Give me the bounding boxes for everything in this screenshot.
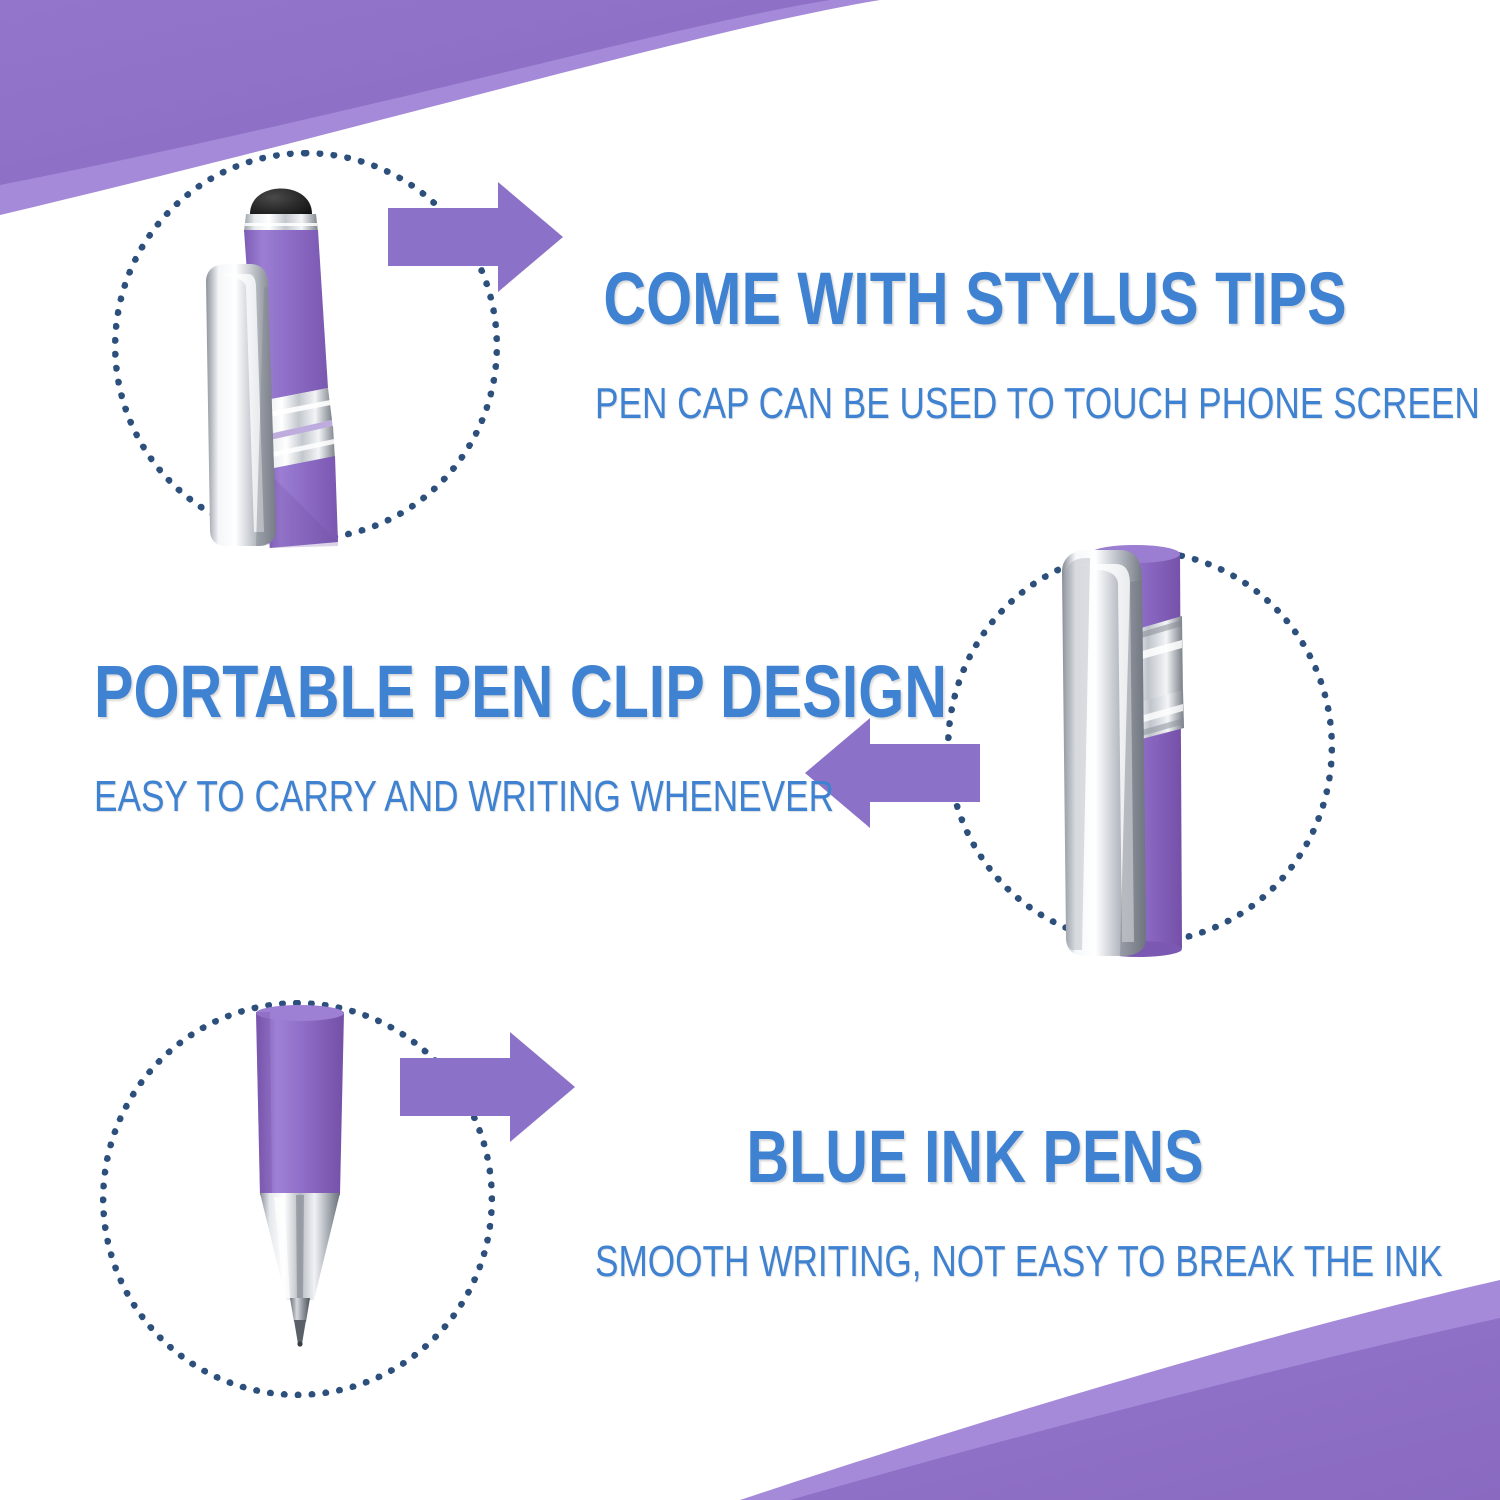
- feature-text-stylus-tips: COME WITH STYLUS TIPS PEN CAP CAN BE USE…: [500, 262, 1450, 426]
- pen-writing-tip-closeup: [240, 1000, 360, 1350]
- feature-text-blue-ink: BLUE INK PENS SMOOTH WRITING, NOT EASY T…: [500, 1120, 1450, 1284]
- ball-point: [297, 1341, 302, 1346]
- headline-blue-ink: BLUE INK PENS: [595, 1120, 1355, 1194]
- pen-clip-closeup: [1060, 540, 1240, 960]
- swoosh-bottom-right-light-band: [740, 1280, 1500, 1500]
- purple-swoosh-bottom-right: [790, 1318, 1500, 1500]
- headline-pen-clip: PORTABLE PEN CLIP DESIGN: [94, 655, 766, 729]
- purple-swoosh-top-left: [0, 0, 830, 185]
- infographic-canvas: COME WITH STYLUS TIPS PEN CAP CAN BE USE…: [0, 0, 1500, 1500]
- ballpoint-nib: [294, 1320, 306, 1344]
- subline-blue-ink: SMOOTH WRITING, NOT EASY TO BREAK THE IN…: [595, 1240, 1355, 1284]
- pen-stylus-tip-closeup: [190, 170, 410, 550]
- headline-stylus-tips: COME WITH STYLUS TIPS: [595, 262, 1355, 336]
- ballpoint-ferrule: [290, 1298, 310, 1322]
- feature-text-pen-clip: PORTABLE PEN CLIP DESIGN EASY TO CARRY A…: [10, 655, 850, 819]
- subline-pen-clip: EASY TO CARRY AND WRITING WHENEVER: [94, 775, 766, 819]
- stylus-rubber-tip: [250, 189, 312, 219]
- subline-stylus-tips: PEN CAP CAN BE USED TO TOUCH PHONE SCREE…: [595, 382, 1355, 426]
